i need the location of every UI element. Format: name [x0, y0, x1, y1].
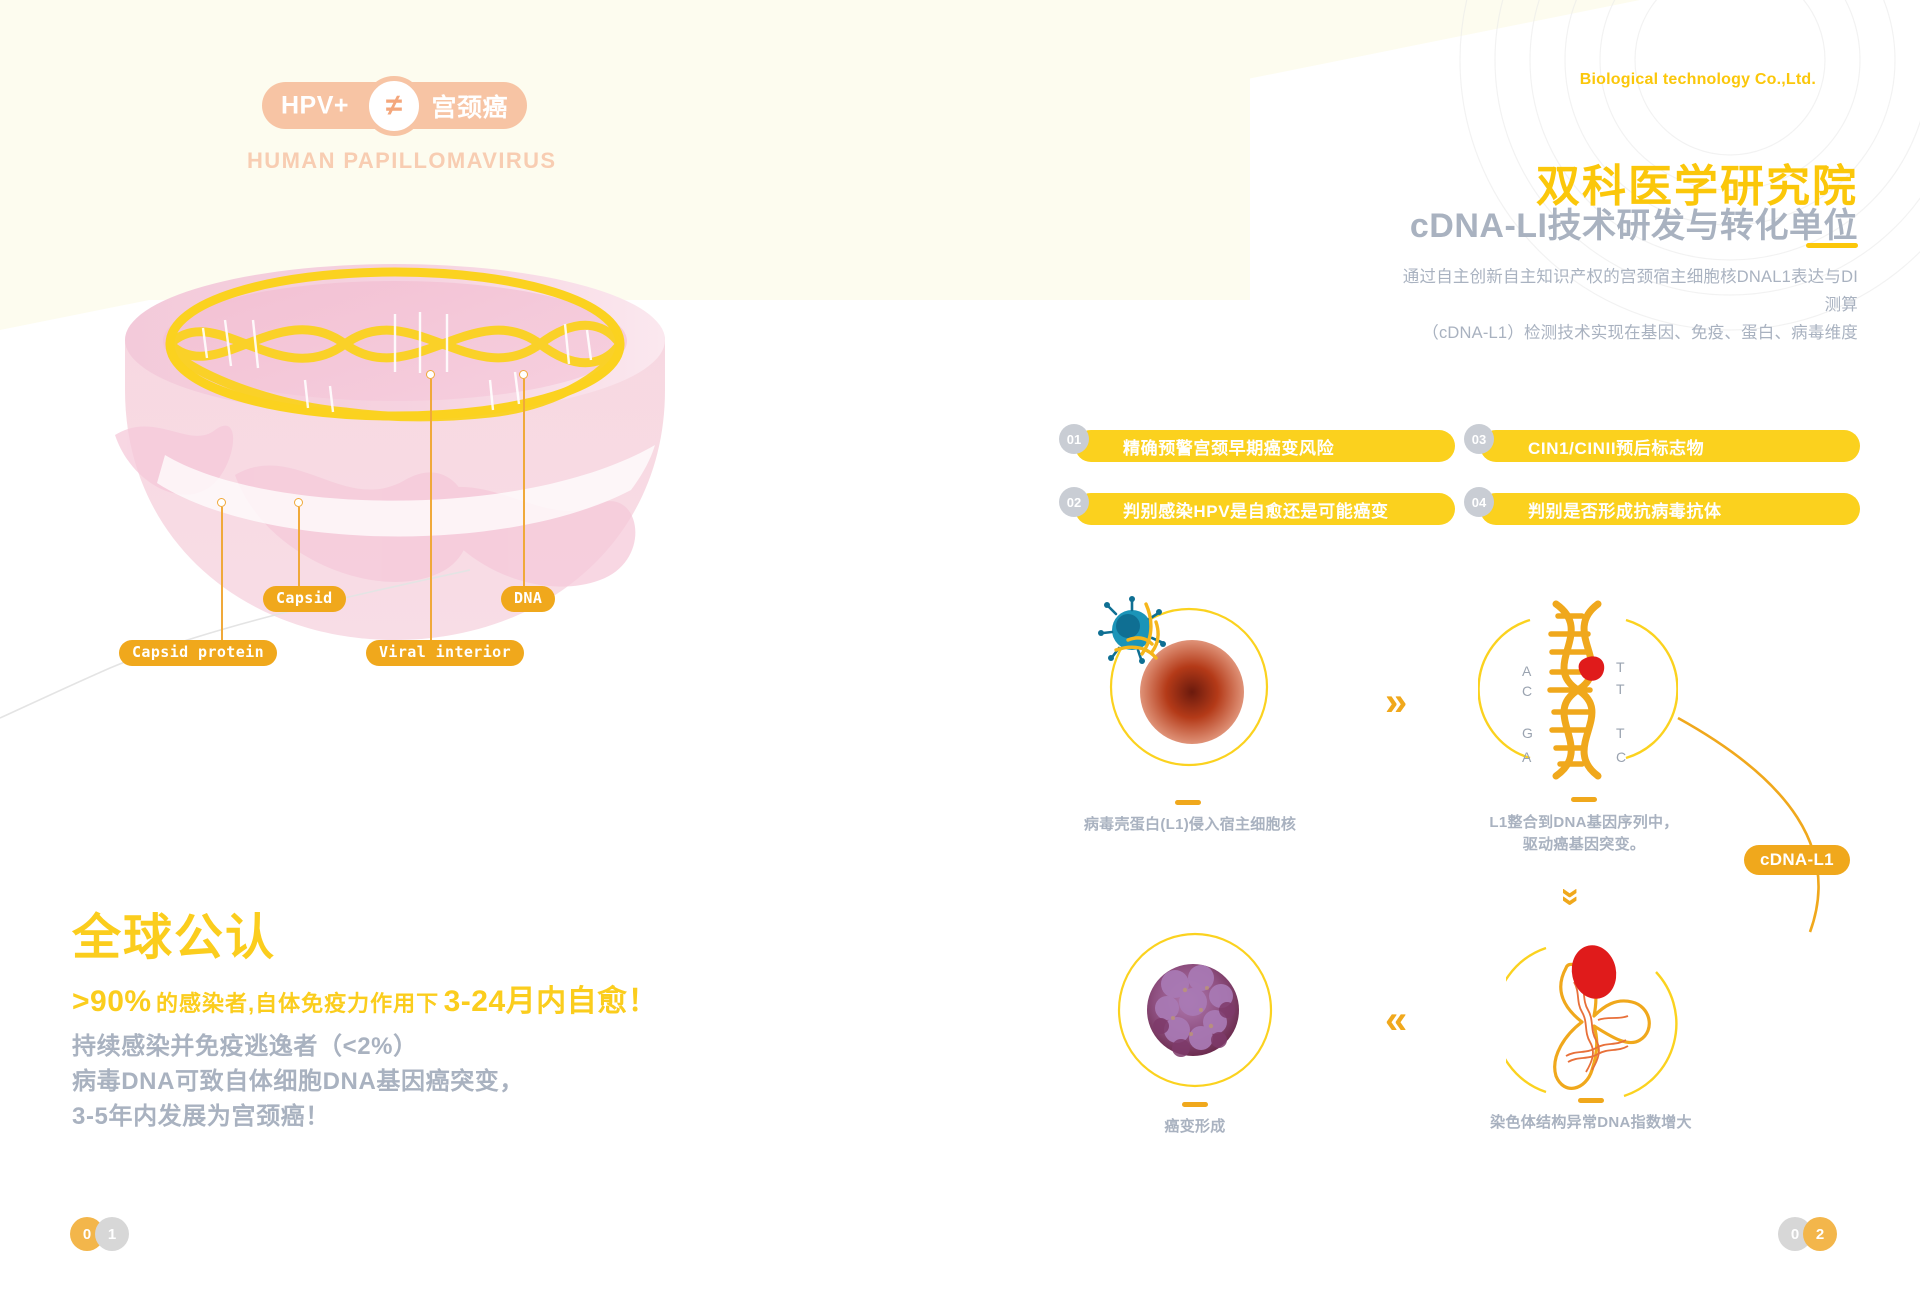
arrow-down-icon: »	[1554, 888, 1588, 907]
svg-text:T: T	[1616, 659, 1625, 675]
leader-line-capsid	[298, 507, 300, 587]
arrow-right-icon: »	[1385, 682, 1407, 722]
arrow-left-icon: «	[1385, 1000, 1407, 1040]
page-number-right: 0 2	[1778, 1217, 1898, 1251]
hpv-badge-right-text: 宫颈癌	[431, 88, 508, 124]
virus-entry-dash	[1175, 800, 1201, 805]
feature-bar-03[interactable]: CIN1/CINII预后标志物	[1480, 430, 1860, 462]
leader-dot-viral-interior	[426, 370, 435, 379]
cancer-formation-dash	[1182, 1102, 1208, 1107]
hpv-badge-left-text: HPV+	[281, 91, 349, 120]
leader-line-dna	[523, 379, 525, 587]
dna-integration-dash	[1571, 797, 1597, 802]
stat-line: >90% 的感染者,自体免疫力作用下 3-24月内自愈！	[72, 976, 658, 1020]
feature-label-01: 精确预警宫颈早期癌变风险	[1123, 434, 1334, 459]
chromosome-abnormal-illustration	[1506, 930, 1696, 1120]
leader-line-capsid-protein	[221, 507, 223, 642]
feature-label-02: 判别感染HPV是自愈还是可能癌变	[1123, 497, 1389, 522]
page-number-left: 0 1	[70, 1217, 190, 1251]
cancer-formation-illustration	[1115, 930, 1275, 1090]
stat-period: 3-24月内自愈！	[444, 985, 659, 1018]
callout-viral-interior: Viral interior	[366, 640, 524, 666]
hpv-subtitle: HUMAN PAPILLOMAVIRUS	[247, 148, 547, 174]
feature-label-04: 判别是否形成抗病毒抗体	[1528, 497, 1722, 522]
page-subtitle: cDNA-LI技术研发与转化单位	[1410, 198, 1858, 247]
feature-number-03: 03	[1464, 424, 1494, 454]
svg-text:T: T	[1616, 681, 1625, 697]
leader-dot-capsid	[294, 498, 303, 507]
cdna-l1-badge: cDNA-L1	[1744, 845, 1850, 875]
chromosome-abnormal-caption: 染色体结构异常DNA指数增大	[1451, 1112, 1731, 1134]
leader-dot-dna	[519, 370, 528, 379]
cancer-formation-caption: 癌变形成	[1095, 1116, 1295, 1138]
feature-label-03: CIN1/CINII预后标志物	[1528, 434, 1704, 459]
svg-text:T: T	[1616, 725, 1625, 741]
infographic-page: HPV+ 宫颈癌 ≠ HUMAN PAPILLOMAVIRUS	[0, 0, 1920, 1303]
svg-text:C: C	[1522, 683, 1532, 699]
feature-number-01: 01	[1059, 424, 1089, 454]
page-number-left-second: 1	[95, 1217, 129, 1251]
stat-middle-text: 的感染者,自体免疫力作用下	[156, 991, 439, 1016]
page-description: 通过自主创新自主知识产权的宫颈宿主细胞核DNAL1表达与DI测算 （cDNA-L…	[1388, 263, 1858, 347]
feature-bar-04[interactable]: 判别是否形成抗病毒抗体	[1480, 493, 1860, 525]
feature-bar-02[interactable]: 判别感染HPV是自愈还是可能癌变	[1075, 493, 1455, 525]
not-equal-icon: ≠	[364, 76, 424, 136]
svg-text:A: A	[1522, 663, 1532, 679]
headline-global: 全球公认	[72, 898, 276, 969]
callout-capsid-protein: Capsid protein	[119, 640, 277, 666]
callout-capsid: Capsid	[263, 586, 346, 612]
page-number-right-second: 2	[1803, 1217, 1837, 1251]
chromosome-abnormal-dash	[1578, 1098, 1604, 1103]
svg-text:C: C	[1616, 749, 1626, 765]
feature-number-04: 04	[1464, 487, 1494, 517]
stat-percent: >90%	[72, 985, 152, 1018]
svg-text:A: A	[1522, 749, 1532, 765]
leader-line-viral-interior	[430, 379, 432, 642]
svg-text:G: G	[1522, 725, 1533, 741]
callout-dna: DNA	[501, 586, 555, 612]
feature-bar-01[interactable]: 精确预警宫颈早期癌变风险	[1075, 430, 1455, 462]
virus-entry-illustration	[1094, 592, 1284, 782]
leader-dot-capsid-protein	[217, 498, 226, 507]
cdna-flow-curve	[1660, 660, 1900, 940]
virus-entry-caption: 病毒壳蛋白(L1)侵入宿主细胞核	[1040, 814, 1340, 836]
title-underline-rule	[1806, 243, 1858, 248]
left-paragraph: 持续感染并免疫逃逸者（<2%） 病毒DNA可致自体细胞DNA基因癌突变， 3-5…	[72, 1030, 524, 1134]
feature-number-02: 02	[1059, 487, 1089, 517]
company-line: Biological technology Co.,Ltd.	[1580, 71, 1816, 89]
dna-integration-illustration: A C G A T T T C	[1478, 590, 1678, 790]
